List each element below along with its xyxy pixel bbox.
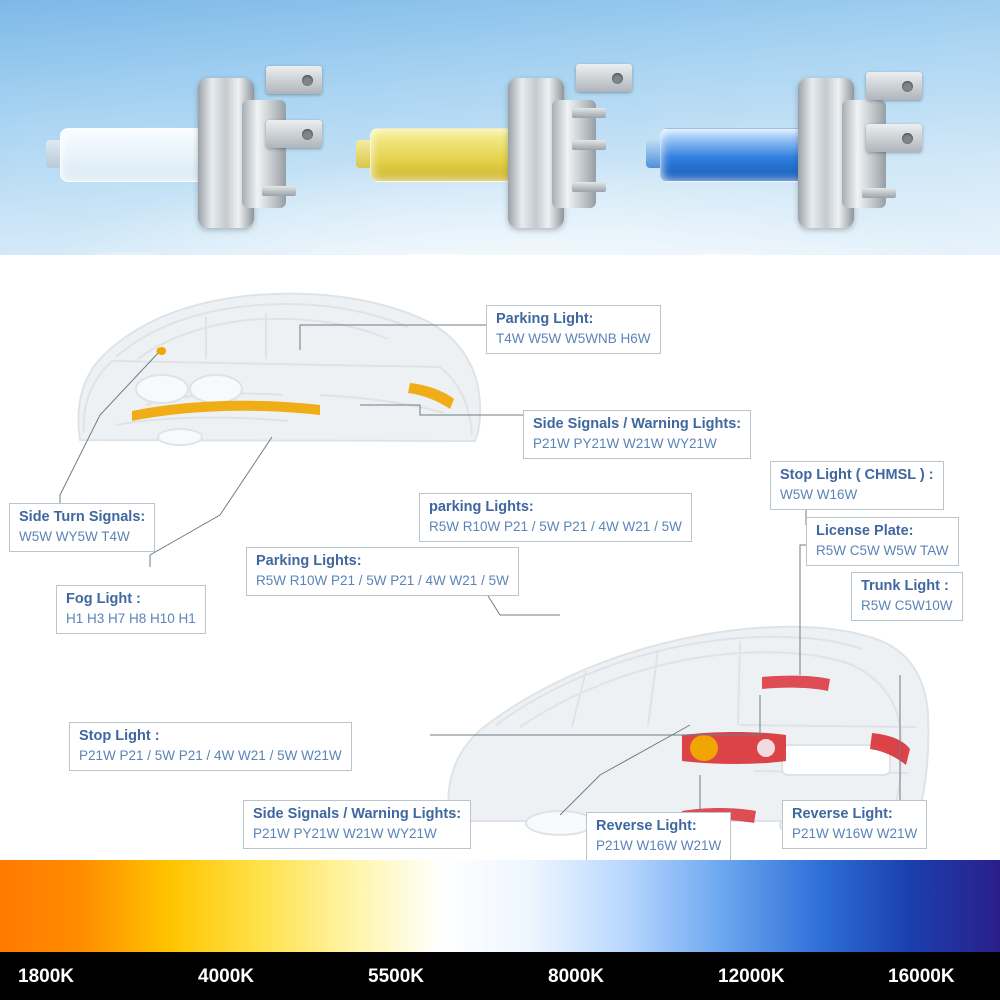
callout-title: License Plate: (816, 523, 949, 541)
callout-title: Reverse Light: (596, 818, 721, 836)
yellow-halogen-bulb (370, 18, 670, 238)
blue-halogen-bulb (660, 18, 960, 238)
callout-codes: H1 H3 H7 H8 H10 H1 (66, 611, 196, 627)
callout-trunk-light[interactable]: Trunk Light : R5W C5W10W (851, 572, 963, 621)
bulb-pin (262, 186, 296, 196)
bulb-glass (660, 128, 807, 182)
callout-side-signals-front[interactable]: Side Signals / Warning Lights: P21W PY21… (523, 410, 751, 459)
bulb-terminal-tab (266, 66, 322, 94)
bulb-terminal-tab (576, 64, 632, 92)
callout-title: Side Turn Signals: (19, 509, 145, 527)
bulb-terminal-tab (866, 124, 922, 152)
bulb-terminal-tab (866, 72, 922, 100)
color-temperature-scale: 1800K4000K5500K8000K12000K16000K (0, 860, 1000, 1000)
temperature-label: 16000K (888, 966, 955, 988)
callout-parking-lights-lower[interactable]: parking Lights: R5W R10W P21 / 5W P21 / … (419, 493, 692, 542)
callout-title: parking Lights: (429, 499, 682, 517)
callout-title: Stop Light : (79, 728, 342, 746)
bulb-pin (572, 140, 606, 150)
bulb-photo-band (0, 0, 1000, 255)
callout-codes: T4W W5W W5WNB H6W (496, 331, 651, 347)
bulb-base (798, 78, 878, 228)
bulb-terminal-tab (266, 120, 322, 148)
bulb-glass (370, 128, 517, 182)
callout-title: Side Signals / Warning Lights: (253, 806, 461, 824)
callout-codes: P21W PY21W W21W WY21W (533, 436, 741, 452)
callout-codes: P21W P21 / 5W P21 / 4W W21 / 5W W21W (79, 748, 342, 764)
callout-codes: R5W C5W10W (861, 598, 953, 614)
bulb-pin (572, 108, 606, 118)
callout-title: Parking Lights: (256, 553, 509, 571)
callout-title: Reverse Light: (792, 806, 917, 824)
callout-codes: R5W R10W P21 / 5W P21 / 4W W21 / 5W (429, 519, 682, 535)
callout-parking-light-front[interactable]: Parking Light: T4W W5W W5WNB H6W (486, 305, 661, 354)
callout-title: Fog Light : (66, 591, 196, 609)
temperature-label: 8000K (548, 966, 604, 988)
callout-codes: R5W C5W W5W TAW (816, 543, 949, 559)
callout-title: Trunk Light : (861, 578, 953, 596)
temperature-label: 12000K (718, 966, 785, 988)
product-infographic: Parking Light: T4W W5W W5WNB H6W Side Si… (0, 0, 1000, 1000)
color-temperature-gradient (0, 860, 1000, 952)
bulb-base (508, 78, 588, 228)
callout-side-signals-rear[interactable]: Side Signals / Warning Lights: P21W PY21… (243, 800, 471, 849)
callout-reverse-light-center[interactable]: Reverse Light: P21W W16W W21W (586, 812, 731, 861)
callout-title: Parking Light: (496, 311, 651, 329)
temperature-label: 4000K (198, 966, 254, 988)
bulb-location-diagram: Parking Light: T4W W5W W5WNB H6W Side Si… (0, 255, 1000, 860)
callout-codes: P21W W16W W21W (792, 826, 917, 842)
callout-codes: W5W W16W (780, 487, 934, 503)
clear-halogen-bulb (60, 18, 360, 238)
bulb-base (198, 78, 278, 228)
temperature-label: 1800K (18, 966, 74, 988)
bulb-pin (862, 188, 896, 198)
callout-codes: W5W WY5W T4W (19, 529, 145, 545)
callout-codes: P21W PY21W W21W WY21W (253, 826, 461, 842)
bulb-pin (572, 182, 606, 192)
color-temperature-labels: 1800K4000K5500K8000K12000K16000K (0, 952, 1000, 1000)
callout-fog-light[interactable]: Fog Light : H1 H3 H7 H8 H10 H1 (56, 585, 206, 634)
callout-title: Stop Light ( CHMSL ) : (780, 467, 934, 485)
bulb-glass (60, 128, 207, 182)
callout-parking-lights-rear[interactable]: Parking Lights: R5W R10W P21 / 5W P21 / … (246, 547, 519, 596)
callout-stop-light-chmsl[interactable]: Stop Light ( CHMSL ) : W5W W16W (770, 461, 944, 510)
temperature-label: 5500K (368, 966, 424, 988)
callout-side-turn-signals[interactable]: Side Turn Signals: W5W WY5W T4W (9, 503, 155, 552)
callout-codes: R5W R10W P21 / 5W P21 / 4W W21 / 5W (256, 573, 509, 589)
car-front-illustration (20, 255, 500, 495)
callout-reverse-light-right[interactable]: Reverse Light: P21W W16W W21W (782, 800, 927, 849)
callout-license-plate[interactable]: License Plate: R5W C5W W5W TAW (806, 517, 959, 566)
callout-title: Side Signals / Warning Lights: (533, 416, 741, 434)
callout-stop-light[interactable]: Stop Light : P21W P21 / 5W P21 / 4W W21 … (69, 722, 352, 771)
callout-codes: P21W W16W W21W (596, 838, 721, 854)
